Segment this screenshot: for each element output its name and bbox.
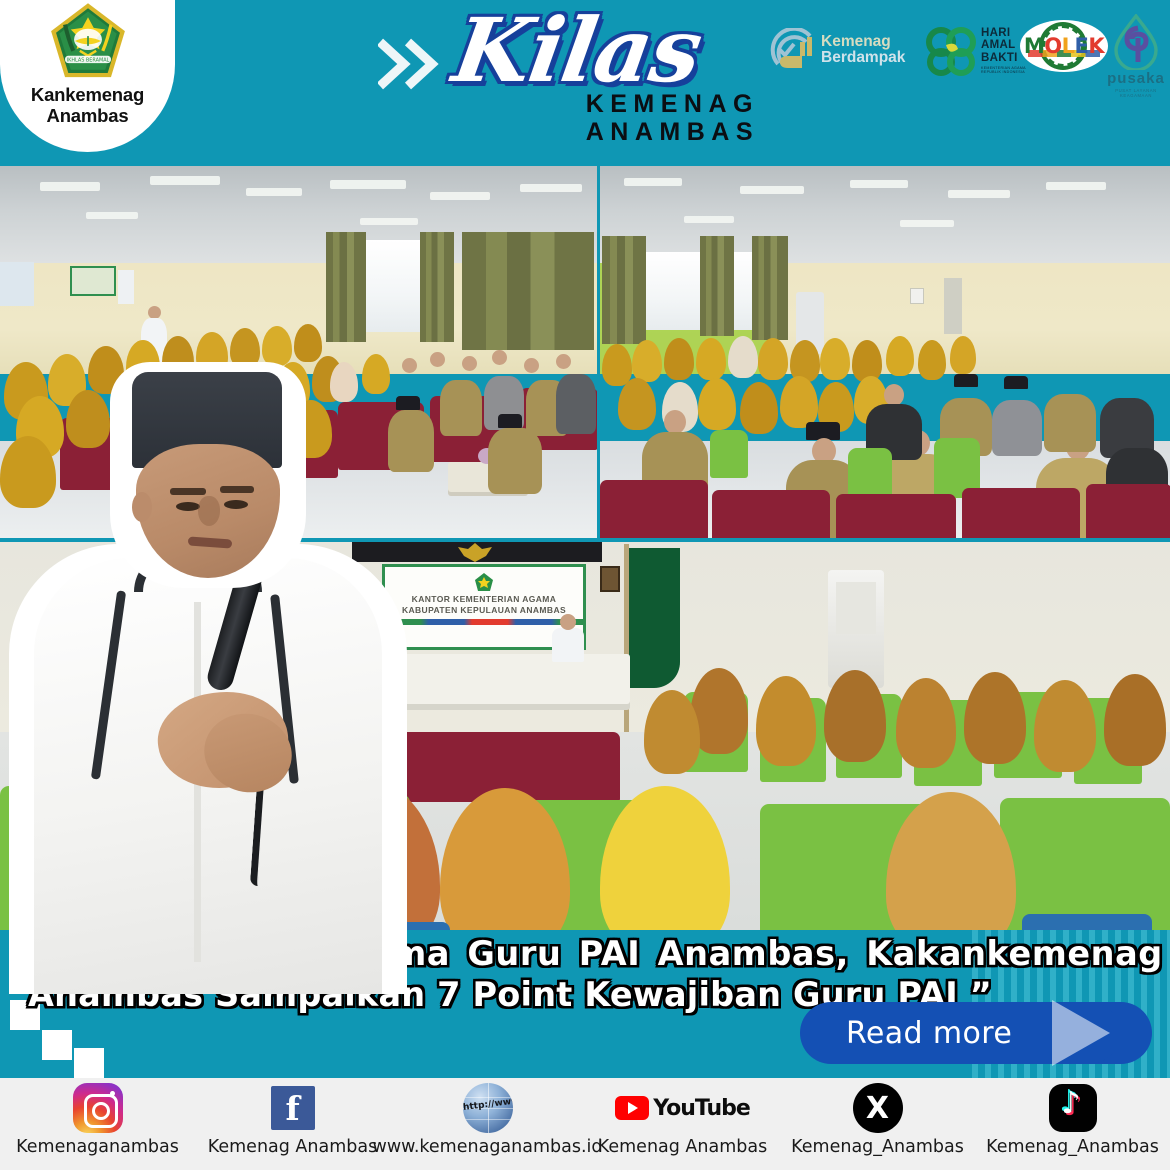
molek-oval-badge: MOLEK [1020,20,1108,72]
brand-name: Kankemenag Anambas [31,85,144,126]
social-item-website[interactable]: http://www www.kemenaganambas.id [399,1082,577,1157]
social-label-facebook: Kemenag Anambas [208,1137,377,1157]
play-arrow-right-icon [1052,1000,1110,1066]
youtube-icon: YouTube [657,1082,709,1134]
svg-text:IKHLAS BERAMAL: IKHLAS BERAMAL [66,58,109,64]
berdampak-label-line2: Berdampak [821,50,905,66]
molek-wordmark: MOLEK [1024,34,1104,58]
berdampak-mark-icon [770,28,816,72]
brand-badge: IKHLAS BERAMAL Kankemenag Anambas [0,0,175,152]
social-label-x: Kemenag_Anambas [791,1137,964,1157]
poster-root: IKHLAS BERAMAL Kankemenag Anambas Kilas … [0,0,1170,1170]
brand-name-line2: Anambas [31,106,144,127]
hab-80-mark-icon [926,25,978,77]
header-subtitle-line2: ANAMBAS [455,118,765,146]
photo-audience-hall-right [600,166,1170,538]
kemenag-berdampak-logo: Kemenag Berdampak [770,26,920,74]
social-item-tiktok[interactable]: ♪ Kemenag_Anambas [984,1082,1162,1157]
youtube-wordmark: YouTube [653,1096,750,1121]
pusaka-wordmark: pusaka [1106,71,1166,86]
cutout-speaker-kakankemenag [8,362,408,994]
social-item-facebook[interactable]: f Kemenag Anambas [204,1082,382,1157]
kemenag-crest-icon: IKHLAS BERAMAL [46,0,130,82]
header-bar: IKHLAS BERAMAL Kankemenag Anambas Kilas … [0,0,1170,166]
header-logo-strip: Kemenag Berdampak HARI AMAL [766,8,1166,100]
double-chevron-right-icon [378,38,440,90]
pusaka-logo: pusaka PUSAT LAYANAN KEAGAMAAN [1106,14,1166,94]
social-label-instagram: Kemenaganambas [16,1137,179,1157]
photo-collage: KANTOR KEMENTERIAN AGAMA KABUPATEN KEPUL… [0,166,1170,956]
berdampak-label: Kemenag Berdampak [821,34,905,67]
pusaka-tagline: PUSAT LAYANAN KEAGAMAAN [1106,88,1166,98]
pusaka-drop-icon [1112,14,1160,70]
social-label-tiktok: Kemenag_Anambas [986,1137,1159,1157]
social-label-youtube: Kemenag Anambas [598,1137,767,1157]
brand-name-line1: Kankemenag [31,85,144,106]
berdampak-label-line1: Kemenag [821,34,905,50]
instagram-icon [72,1082,124,1134]
x-twitter-icon: X [852,1082,904,1134]
garuda-emblem-icon [452,542,498,566]
social-item-x[interactable]: X Kemenag_Anambas [789,1082,967,1157]
banner-crest-icon [474,572,494,592]
tiktok-icon: ♪ [1047,1082,1099,1134]
backdrop-line2: KABUPATEN KEPULAUAN ANAMBAS [385,605,583,616]
read-more-label: Read more [800,1016,1012,1051]
facebook-icon: f [267,1082,319,1134]
molek-logo: MOLEK [1020,20,1108,72]
social-item-instagram[interactable]: Kemenaganambas [9,1082,187,1157]
social-footer: Kemenaganambas f Kemenag Anambas http://… [0,1078,1170,1170]
social-label-website: www.kemenaganambas.id [373,1137,603,1157]
kilas-title-block: Kilas KEMENAG ANAMBAS [455,6,765,156]
page-title: Kilas [448,6,707,94]
backdrop-line1: KANTOR KEMENTERIAN AGAMA [385,594,583,605]
website-globe-icon: http://www [462,1082,514,1134]
social-item-youtube[interactable]: YouTube Kemenag Anambas [594,1082,772,1157]
